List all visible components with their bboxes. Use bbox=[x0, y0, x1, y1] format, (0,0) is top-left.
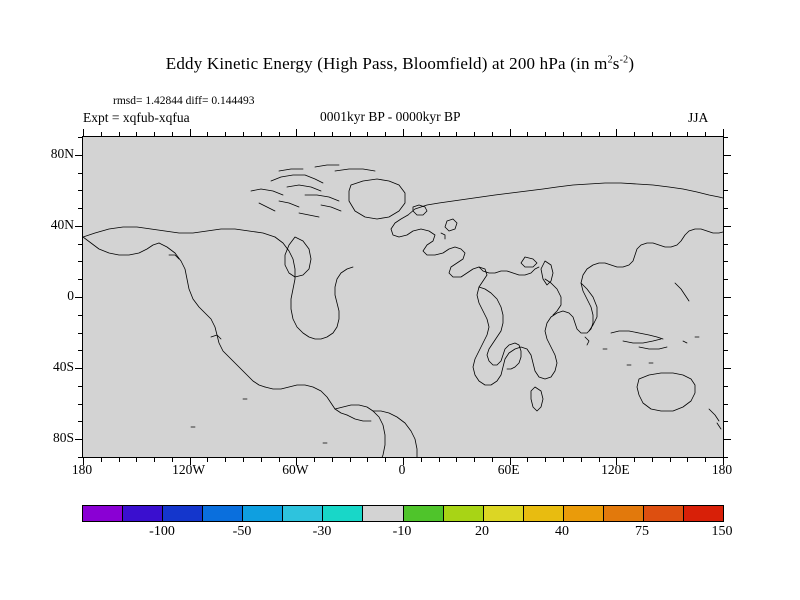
period-label: 0001kyr BP - 0000kyr BP bbox=[320, 109, 461, 125]
experiment-label: Expt = xqfub-xqfua bbox=[83, 110, 190, 126]
y-axis-tick bbox=[723, 350, 728, 351]
x-axis-tick bbox=[456, 457, 457, 462]
y-axis-tick bbox=[723, 155, 731, 156]
x-axis-tick bbox=[421, 457, 422, 462]
y-axis-tick bbox=[723, 244, 728, 245]
rmsd-statistics: rmsd= 1.42844 diff= 0.144493 bbox=[113, 95, 255, 107]
y-axis-tick bbox=[723, 190, 728, 191]
y-axis-label: 80N bbox=[51, 146, 74, 162]
x-axis-tick bbox=[207, 457, 208, 462]
page-title: Eddy Kinetic Energy (High Pass, Bloomfie… bbox=[0, 54, 800, 74]
x-axis-tick bbox=[439, 132, 440, 137]
colorbar-segment bbox=[564, 506, 604, 521]
x-axis-tick bbox=[225, 457, 226, 462]
colorbar-segment bbox=[203, 506, 243, 521]
y-axis-tick bbox=[723, 368, 731, 369]
x-axis-tick bbox=[545, 132, 546, 137]
x-axis-tick bbox=[599, 457, 600, 462]
y-axis-tick bbox=[723, 439, 731, 440]
y-axis-tick bbox=[78, 261, 83, 262]
y-axis-tick bbox=[75, 297, 83, 298]
x-axis-label: 0 bbox=[399, 462, 406, 478]
x-axis-tick bbox=[350, 457, 351, 462]
x-axis-tick bbox=[687, 457, 688, 462]
x-axis-tick bbox=[652, 132, 653, 137]
y-axis-label: 80S bbox=[53, 430, 74, 446]
y-axis-tick bbox=[723, 315, 728, 316]
colorbar-segment bbox=[644, 506, 684, 521]
y-axis-tick bbox=[75, 439, 83, 440]
x-axis-tick bbox=[225, 132, 226, 137]
colorbar-tick-label: -100 bbox=[149, 524, 175, 540]
title-text-main: Eddy Kinetic Energy (High Pass, Bloomfie… bbox=[166, 54, 608, 73]
y-axis-tick bbox=[78, 386, 83, 387]
y-axis-tick bbox=[78, 173, 83, 174]
x-axis-tick bbox=[652, 457, 653, 462]
y-axis-tick bbox=[78, 350, 83, 351]
x-axis-tick bbox=[385, 132, 386, 137]
colorbar-segment bbox=[83, 506, 123, 521]
y-axis-tick bbox=[78, 404, 83, 405]
colorbar-tick-label: -30 bbox=[313, 524, 332, 540]
colorbar-tick-label: 40 bbox=[555, 524, 569, 540]
y-axis-tick bbox=[78, 137, 83, 138]
y-axis-tick bbox=[78, 208, 83, 209]
y-axis-tick bbox=[723, 173, 728, 174]
x-axis-tick bbox=[314, 457, 315, 462]
y-axis-label: 40S bbox=[53, 359, 74, 375]
title-text-close: ) bbox=[628, 54, 634, 73]
x-axis-tick bbox=[296, 129, 297, 137]
colorbar-tick-label: 20 bbox=[475, 524, 489, 540]
x-axis-tick bbox=[634, 132, 635, 137]
x-axis-tick bbox=[634, 457, 635, 462]
x-axis-tick bbox=[101, 132, 102, 137]
y-axis-tick bbox=[723, 261, 728, 262]
x-axis-tick bbox=[119, 132, 120, 137]
x-axis-tick bbox=[527, 132, 528, 137]
x-axis-label: 120E bbox=[601, 462, 630, 478]
x-axis-tick bbox=[261, 457, 262, 462]
colorbar-segment bbox=[363, 506, 403, 521]
x-axis-tick bbox=[527, 457, 528, 462]
colorbar-segment bbox=[283, 506, 323, 521]
y-axis-tick bbox=[78, 333, 83, 334]
colorbar-segment bbox=[484, 506, 524, 521]
x-axis-tick bbox=[581, 132, 582, 137]
x-axis-tick bbox=[421, 132, 422, 137]
y-axis-tick bbox=[723, 386, 728, 387]
y-axis-tick bbox=[75, 155, 83, 156]
x-axis-tick bbox=[616, 129, 617, 137]
x-axis-label: 60W bbox=[282, 462, 308, 478]
x-axis-label: 180 bbox=[712, 462, 732, 478]
season-label: JJA bbox=[688, 110, 708, 126]
x-axis-tick bbox=[136, 132, 137, 137]
colorbar-tick-label: 75 bbox=[635, 524, 649, 540]
y-axis-tick bbox=[78, 244, 83, 245]
x-axis-tick bbox=[279, 132, 280, 137]
y-axis-tick bbox=[723, 279, 728, 280]
x-axis-tick bbox=[261, 132, 262, 137]
x-axis-tick bbox=[563, 132, 564, 137]
colorbar-segment bbox=[323, 506, 363, 521]
colorbar bbox=[82, 505, 724, 522]
colorbar-segment bbox=[404, 506, 444, 521]
y-axis-tick bbox=[723, 297, 731, 298]
y-axis-tick bbox=[723, 226, 731, 227]
x-axis-tick bbox=[136, 457, 137, 462]
x-axis-tick bbox=[367, 457, 368, 462]
y-axis-tick bbox=[723, 333, 728, 334]
colorbar-segment bbox=[444, 506, 484, 521]
x-axis-tick bbox=[492, 132, 493, 137]
y-axis-tick bbox=[723, 457, 728, 458]
x-axis-tick bbox=[207, 132, 208, 137]
y-axis-tick bbox=[78, 190, 83, 191]
y-axis-tick bbox=[723, 421, 728, 422]
colorbar-segment bbox=[243, 506, 283, 521]
x-axis-tick bbox=[332, 457, 333, 462]
y-axis-tick bbox=[723, 137, 728, 138]
y-axis-tick bbox=[723, 208, 728, 209]
x-axis-tick bbox=[456, 132, 457, 137]
title-text-s: s bbox=[613, 54, 620, 73]
x-axis-tick bbox=[723, 129, 724, 137]
x-axis-tick bbox=[332, 132, 333, 137]
y-axis-tick bbox=[78, 279, 83, 280]
x-axis-tick bbox=[492, 457, 493, 462]
x-axis-tick bbox=[279, 457, 280, 462]
x-axis-label: 180 bbox=[72, 462, 92, 478]
x-axis-tick bbox=[154, 132, 155, 137]
colorbar-segment bbox=[123, 506, 163, 521]
colorbar-segment bbox=[524, 506, 564, 521]
x-axis-tick bbox=[670, 457, 671, 462]
x-axis-tick bbox=[670, 132, 671, 137]
x-axis-tick bbox=[705, 457, 706, 462]
y-axis-label: 0 bbox=[67, 288, 74, 304]
colorbar-segment bbox=[684, 506, 723, 521]
x-axis-tick bbox=[314, 132, 315, 137]
x-axis-tick bbox=[510, 129, 511, 137]
y-axis-label: 40N bbox=[51, 217, 74, 233]
colorbar-segment bbox=[163, 506, 203, 521]
x-axis-label: 60E bbox=[498, 462, 520, 478]
y-axis-tick bbox=[78, 457, 83, 458]
colorbar-segment bbox=[604, 506, 644, 521]
x-axis-tick bbox=[403, 129, 404, 137]
colorbar-tick-label: 150 bbox=[712, 524, 733, 540]
x-axis-tick bbox=[705, 132, 706, 137]
y-axis-tick bbox=[75, 226, 83, 227]
x-axis-tick bbox=[545, 457, 546, 462]
x-axis-tick bbox=[350, 132, 351, 137]
x-axis-tick bbox=[101, 457, 102, 462]
x-axis-tick bbox=[385, 457, 386, 462]
x-axis-tick bbox=[243, 457, 244, 462]
y-axis-tick bbox=[78, 421, 83, 422]
y-axis-tick bbox=[723, 404, 728, 405]
x-axis-tick bbox=[599, 132, 600, 137]
colorbar-tick-label: -10 bbox=[393, 524, 412, 540]
y-axis-tick bbox=[78, 315, 83, 316]
x-axis-label: 120W bbox=[172, 462, 205, 478]
colorbar-tick-label: -50 bbox=[233, 524, 252, 540]
x-axis-tick bbox=[367, 132, 368, 137]
x-axis-tick bbox=[119, 457, 120, 462]
x-axis-tick bbox=[474, 132, 475, 137]
x-axis-tick bbox=[190, 129, 191, 137]
x-axis-tick bbox=[83, 129, 84, 137]
coastline-map bbox=[83, 137, 723, 457]
x-axis-tick bbox=[439, 457, 440, 462]
map-plot-area bbox=[82, 136, 724, 458]
x-axis-tick bbox=[474, 457, 475, 462]
x-axis-tick bbox=[687, 132, 688, 137]
y-axis-tick bbox=[75, 368, 83, 369]
x-axis-tick bbox=[581, 457, 582, 462]
x-axis-tick bbox=[154, 457, 155, 462]
x-axis-tick bbox=[243, 132, 244, 137]
x-axis-tick bbox=[172, 132, 173, 137]
x-axis-tick bbox=[563, 457, 564, 462]
